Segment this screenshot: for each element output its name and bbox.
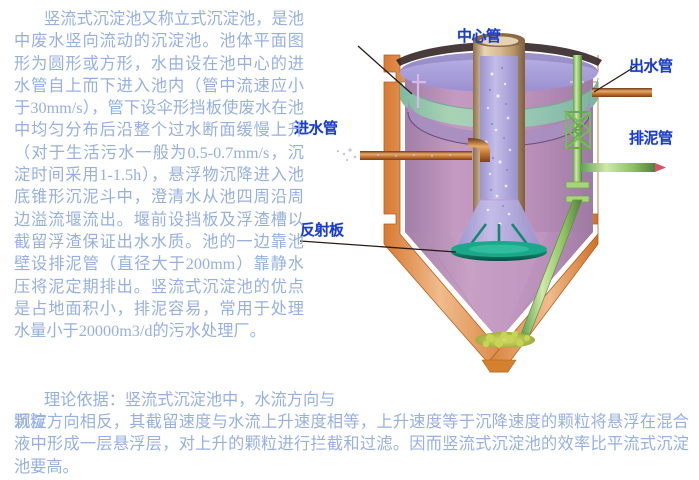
inlet-spray: [337, 148, 356, 161]
label-sludge-pipe: 排泥管: [629, 130, 673, 146]
outlet-pipe: [592, 88, 652, 97]
description-paragraph-1: 竖流式沉淀池又称立式沉淀池，是池中废水竖向流动的沉淀池。池体平面图形为圆形或方形…: [14, 8, 304, 342]
label-center-pipe: 中心管: [457, 28, 501, 44]
page-root: 中心管 出水管 进水管 排泥管 反射板 竖流式沉淀池又称立式沉淀池，是池中废水竖…: [0, 0, 699, 480]
theory-paragraph-rest: 沉淀方向相反，其截留速度与水流上升速度相等，上升速度等于沉降速度的颗粒将悬浮在混…: [14, 411, 689, 478]
label-outlet-pipe: 出水管: [629, 58, 673, 74]
label-reflector: 反射板: [300, 222, 344, 238]
